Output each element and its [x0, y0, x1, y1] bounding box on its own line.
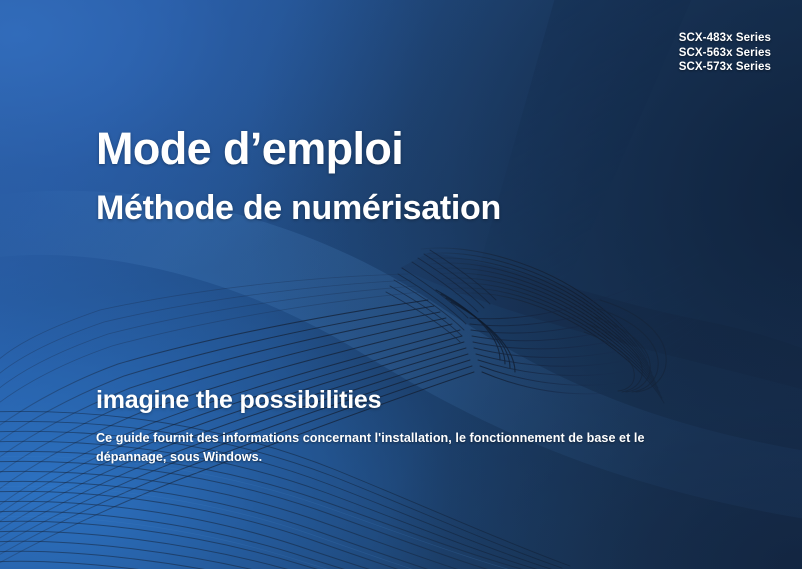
user-guide-cover-page: SCX-483x Series SCX-563x Series SCX-573x… — [0, 0, 802, 569]
model-series-line-1: SCX-483x Series — [679, 31, 771, 46]
page-title: Mode d’emploi — [96, 124, 501, 174]
brand-tagline: imagine the possibilities — [96, 386, 381, 415]
imagine-swirl-artwork — [0, 0, 802, 569]
page-subtitle: Méthode de numérisation — [96, 188, 501, 228]
cover-title-block: Mode d’emploi Méthode de numérisation — [96, 124, 501, 228]
model-series-line-2: SCX-563x Series — [679, 46, 771, 61]
cover-description: Ce guide fournit des informations concer… — [96, 429, 684, 467]
model-series-list: SCX-483x Series SCX-563x Series SCX-573x… — [679, 31, 771, 75]
model-series-line-3: SCX-573x Series — [679, 60, 771, 75]
